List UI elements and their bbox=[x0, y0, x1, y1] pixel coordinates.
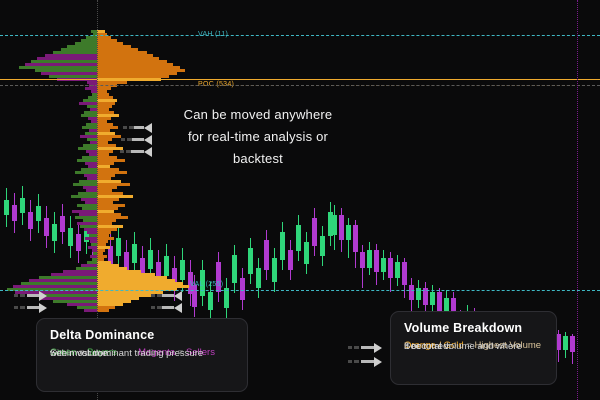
arrow-head-icon bbox=[374, 343, 382, 353]
arrow-shaft bbox=[361, 360, 374, 363]
arrow-dash bbox=[354, 360, 359, 363]
callout-volume-title: Volume Breakdown bbox=[404, 321, 543, 335]
arrow-head-icon bbox=[39, 291, 47, 301]
arrow-shaft bbox=[132, 138, 144, 141]
arrow-profile-left-2 bbox=[14, 304, 52, 311]
arrow-volume-2 bbox=[348, 358, 388, 365]
arrow-shaft bbox=[27, 306, 39, 309]
arrow-shaft bbox=[131, 150, 144, 153]
arrow-dash bbox=[121, 138, 125, 141]
arrow-dash bbox=[348, 360, 352, 363]
arrow-shaft bbox=[361, 346, 374, 349]
arrow-head-icon bbox=[39, 303, 47, 313]
callout-volume-breakdown[interactable]: Volume Breakdown See total volume and wh… bbox=[390, 311, 557, 385]
arrow-dash bbox=[348, 346, 352, 349]
arrow-head-icon bbox=[144, 135, 152, 145]
callout-delta-line-2: within volume: bbox=[50, 347, 110, 361]
arrow-dash bbox=[120, 150, 124, 153]
arrow-dash bbox=[354, 346, 359, 349]
arrow-profile-right-2 bbox=[144, 304, 182, 311]
arrow-dash bbox=[14, 306, 18, 309]
arrow-shaft bbox=[162, 294, 174, 297]
arrow-head-icon bbox=[374, 357, 382, 367]
arrow-shaft bbox=[134, 126, 144, 129]
arrow-dash bbox=[151, 306, 155, 309]
arrow-dash bbox=[14, 294, 18, 297]
callout-delta-title: Delta Dominance bbox=[50, 328, 234, 342]
arrow-profile-right-1 bbox=[144, 292, 182, 299]
arrow-shaft bbox=[162, 306, 174, 309]
arrow-head-icon bbox=[174, 291, 182, 301]
arrow-shaft bbox=[27, 294, 39, 297]
arrow-profile-left-1 bbox=[14, 292, 52, 299]
arrow-head-icon bbox=[174, 303, 182, 313]
arrow-center-1 bbox=[118, 124, 152, 131]
callout-volume-line-2: it occurred: bbox=[404, 340, 451, 354]
arrow-dash bbox=[20, 306, 25, 309]
arrow-center-2 bbox=[114, 136, 152, 143]
arrow-dash bbox=[151, 294, 155, 297]
trading-chart-screenshot: VAH (11)POC (534)VAL (255) Can be moved … bbox=[0, 0, 600, 400]
arrow-dash bbox=[123, 126, 127, 129]
arrow-head-icon bbox=[144, 123, 152, 133]
arrow-dash bbox=[20, 294, 25, 297]
arrow-center-3 bbox=[112, 148, 152, 155]
callout-delta-dominance[interactable]: Delta Dominance See most dominant tradin… bbox=[36, 318, 248, 392]
arrow-head-icon bbox=[144, 147, 152, 157]
arrow-volume-1 bbox=[348, 344, 388, 351]
